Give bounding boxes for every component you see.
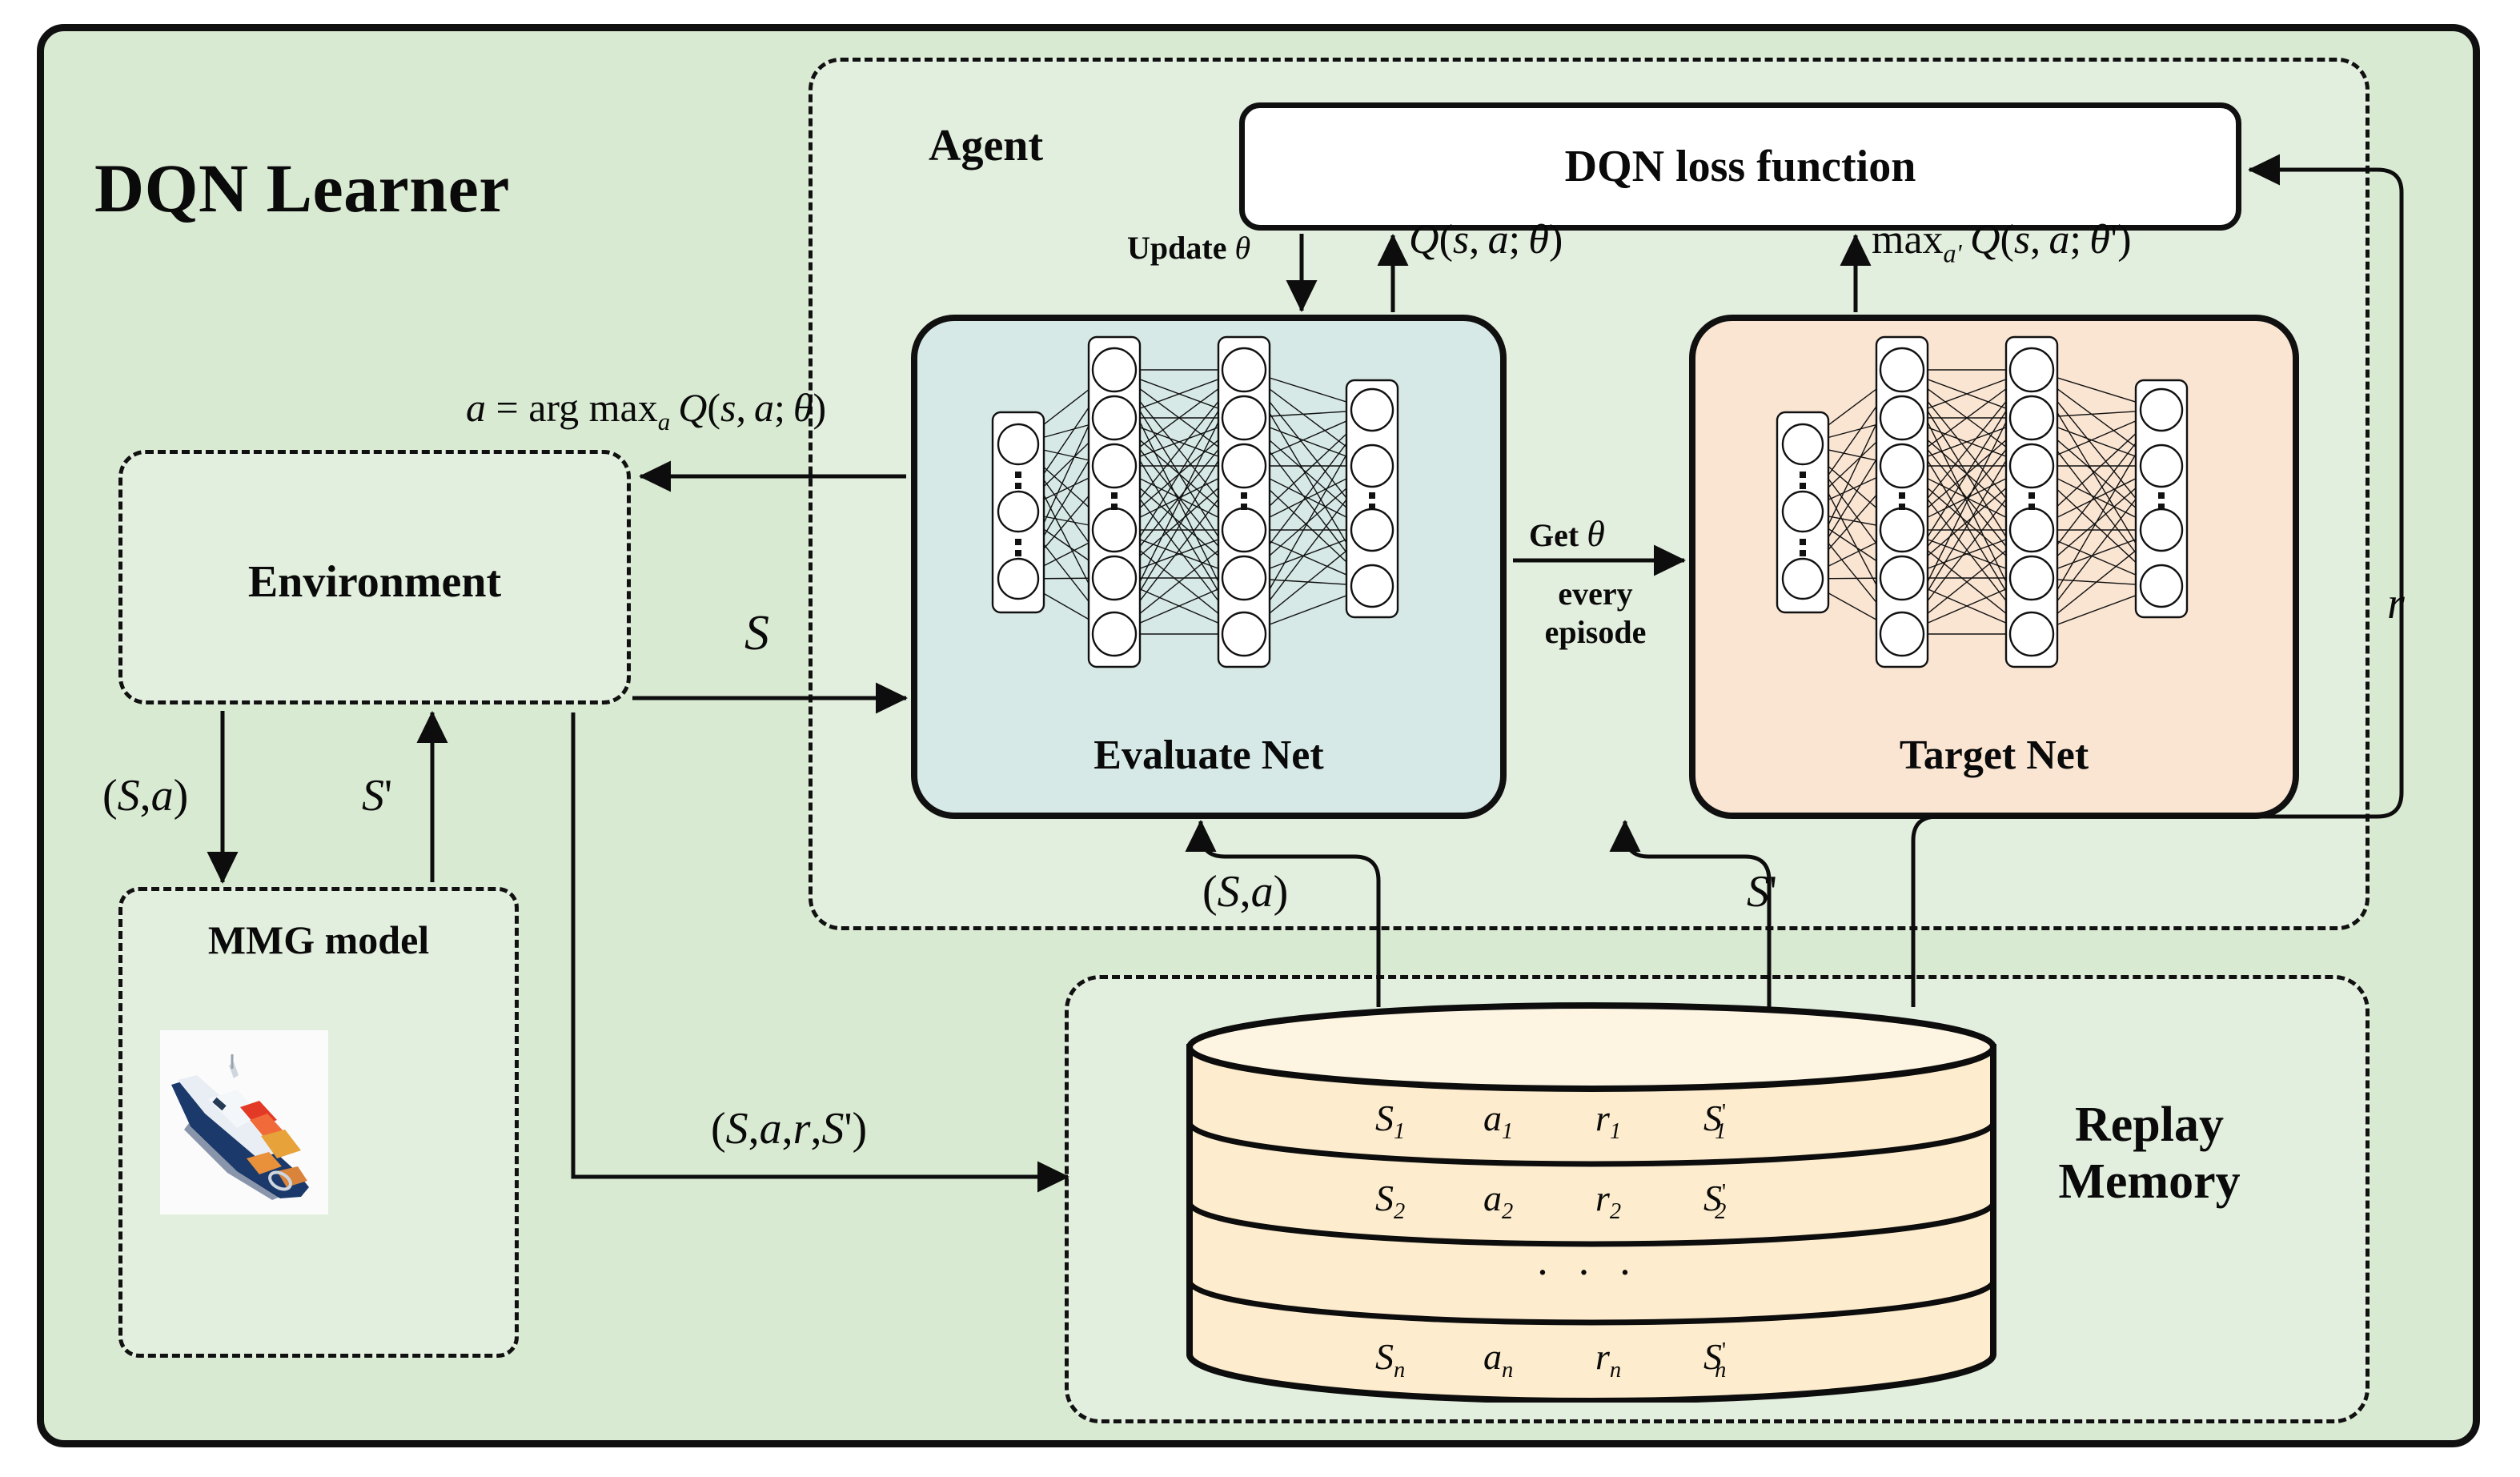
replay-row-n-next-state: S'n [1703,1335,1726,1383]
replay-memory-label: Replay Memory [2017,1097,2281,1211]
label-get-theta-line2: every [1535,575,1655,613]
replay-memory-label-line2: Memory [2017,1154,2281,1210]
target-net-caption: Target Net [1695,732,2293,779]
label-policy-argmax: a = arg maxa Q(s, a; θ) [466,384,826,436]
replay-row-ellipsis: · · · [1535,1247,1640,1297]
agent-title: Agent [929,120,1043,171]
dqn-loss-function-label: DQN loss function [1565,141,1916,192]
replay-row-2-state: S2 [1375,1177,1405,1225]
label-get-theta-line3: episode [1535,613,1655,652]
label-env-to-mmg: (S,a) [102,770,188,821]
replay-row-2-next-state: S'2 [1703,1177,1726,1225]
label-mmg-to-env: S' [362,770,392,821]
replay-memory-label-line1: Replay [2017,1097,2281,1154]
label-update-theta: Update θ [1127,229,1250,267]
cylinder-shape [1183,1002,2000,1403]
page-title: DQN Learner [94,148,510,228]
label-reward-r: r [2387,578,2405,629]
replay-row-n-action: an [1483,1335,1513,1383]
evaluate-net-caption: Evaluate Net [917,732,1500,779]
dqn-loss-function-box[interactable]: DQN loss function [1239,102,2241,231]
label-transition-tuple: (S,a,r,S') [711,1103,867,1154]
replay-row-1-next-state: S'1 [1703,1097,1726,1145]
replay-memory-cylinder: S1 a1 r1 S'1 S2 a2 r2 S'2 · · · Sn an [1183,1002,2000,1403]
replay-row-1-action: a1 [1483,1097,1513,1145]
environment-label: Environment [122,556,627,608]
ship-image [160,1030,328,1214]
replay-row-n-state: Sn [1375,1335,1405,1383]
replay-row-2-reward: r2 [1595,1177,1621,1225]
target-net-card[interactable]: Target Net [1689,315,2299,819]
replay-row-n-reward: rn [1595,1335,1621,1383]
label-sample-sa: (S,a) [1202,866,1288,917]
evaluate-net-diagram [924,326,1507,702]
replay-row-2-action: a2 [1483,1177,1513,1225]
label-q-target-max: maxa' Q(s, a; θ') [1872,216,2132,268]
diagram-canvas: DQN Learner Agent Environment MMG model [0,0,2520,1477]
label-sample-sprime: S' [1747,866,1777,917]
replay-row-1-state: S1 [1375,1097,1405,1145]
evaluate-net-card[interactable]: Evaluate Net [911,315,1507,819]
label-q-eval: Q(s, a; θ) [1409,216,1563,263]
label-get-theta-lines: every episode [1535,575,1655,652]
target-net-diagram [1702,326,2299,702]
replay-row-1-reward: r1 [1595,1097,1621,1145]
mmg-model-label: MMG model [122,917,515,963]
environment-container: Environment [118,450,631,704]
label-get-theta-line1: Get θ [1529,512,1605,555]
ship-icon [160,1030,328,1214]
label-state-s: S [744,605,769,662]
